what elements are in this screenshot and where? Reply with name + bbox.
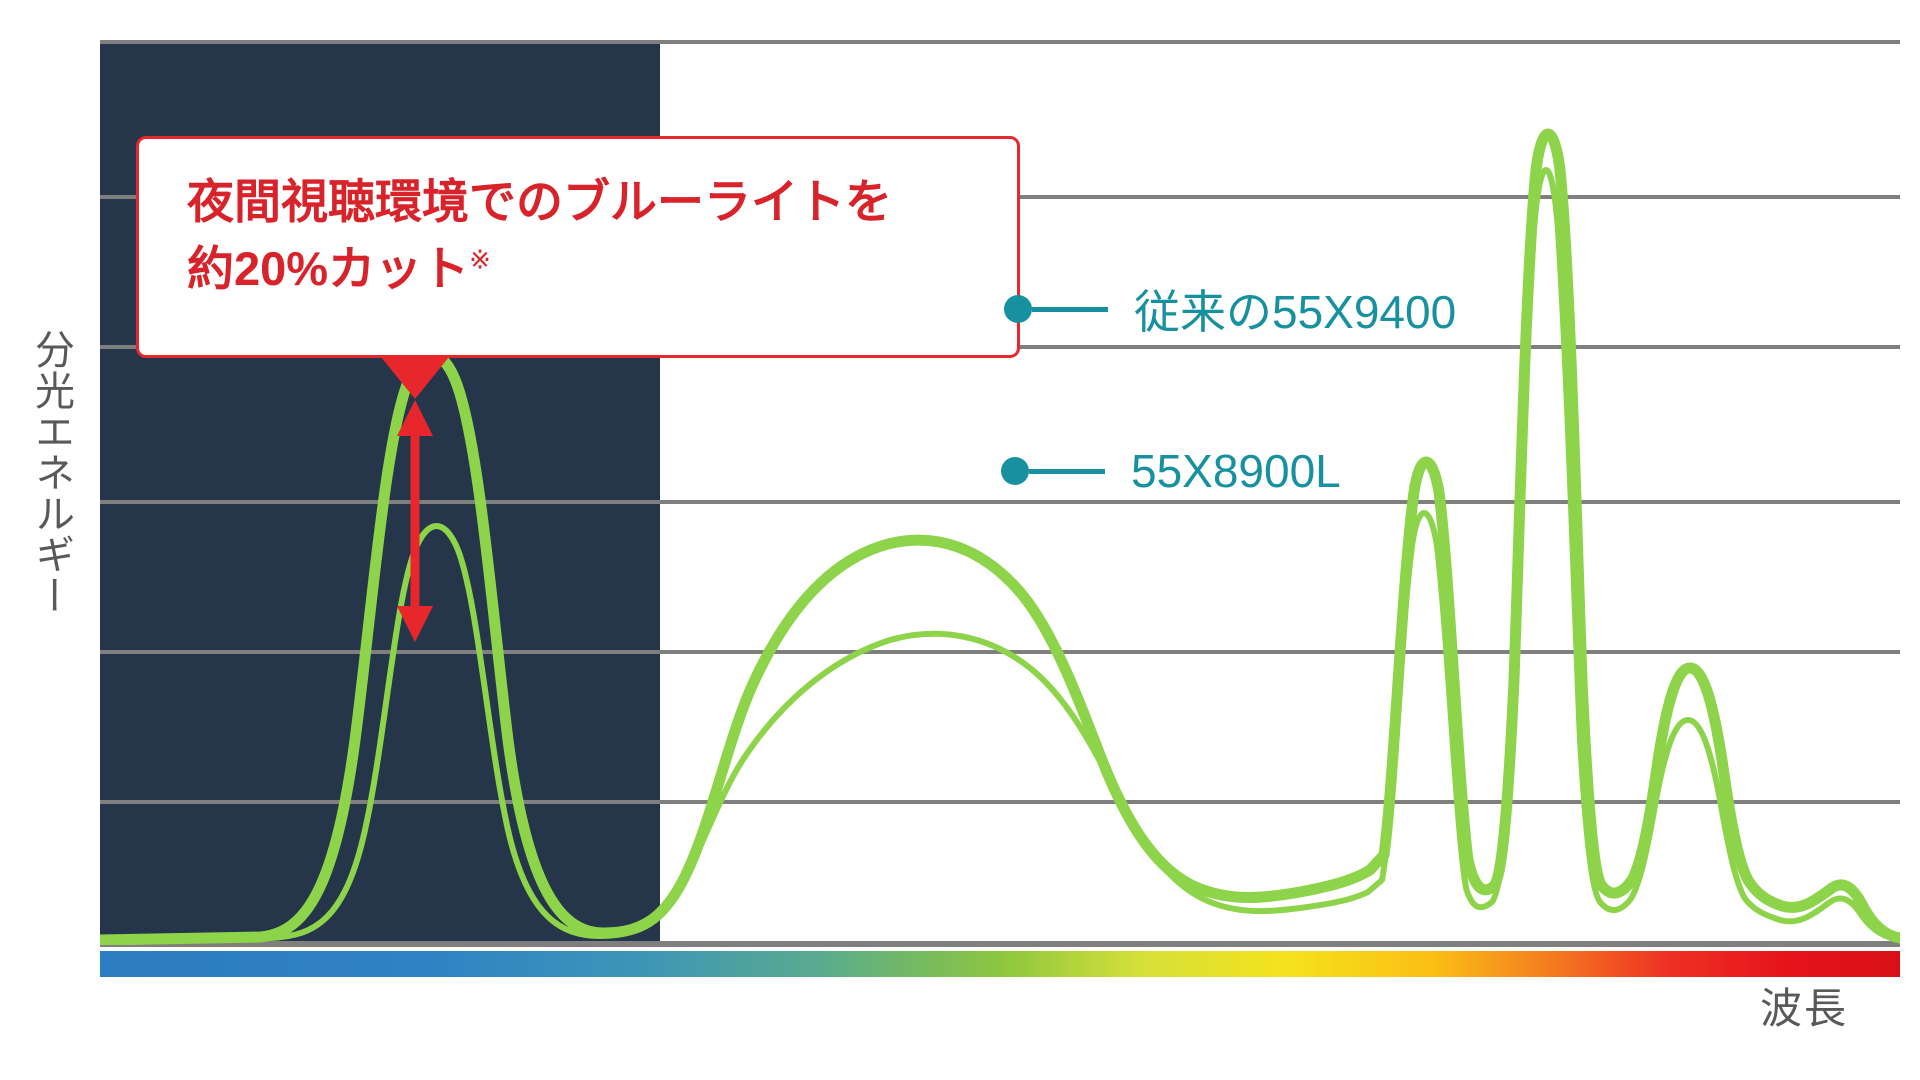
- callout-line-2: 約20%カット※: [187, 236, 1017, 303]
- legend-leader-line: [1032, 307, 1108, 312]
- callout-line-1: 夜間視聴環境でのブルーライトを: [187, 169, 1017, 236]
- callout-pointer-triangle: [381, 357, 449, 399]
- blue-light-callout: 夜間視聴環境でのブルーライトを 約20%カット※: [136, 136, 1020, 358]
- legend-dot-icon: [1001, 457, 1029, 485]
- legend-item-conventional-55X9400[interactable]: 従来の55X9400: [1004, 276, 1456, 342]
- legend-dot-icon: [1004, 295, 1032, 323]
- legend-leader-line: [1029, 469, 1105, 474]
- legend-label: 55X8900L: [1131, 444, 1341, 498]
- legend-label: 従来の55X9400: [1134, 276, 1456, 342]
- legend-item-55X8900L[interactable]: 55X8900L: [1001, 444, 1341, 498]
- chart-container: 分光エネルギー: [0, 0, 1920, 1080]
- callout-line-2-text: 約20%カット: [187, 242, 469, 295]
- asterisk-note-marker: ※: [469, 244, 491, 274]
